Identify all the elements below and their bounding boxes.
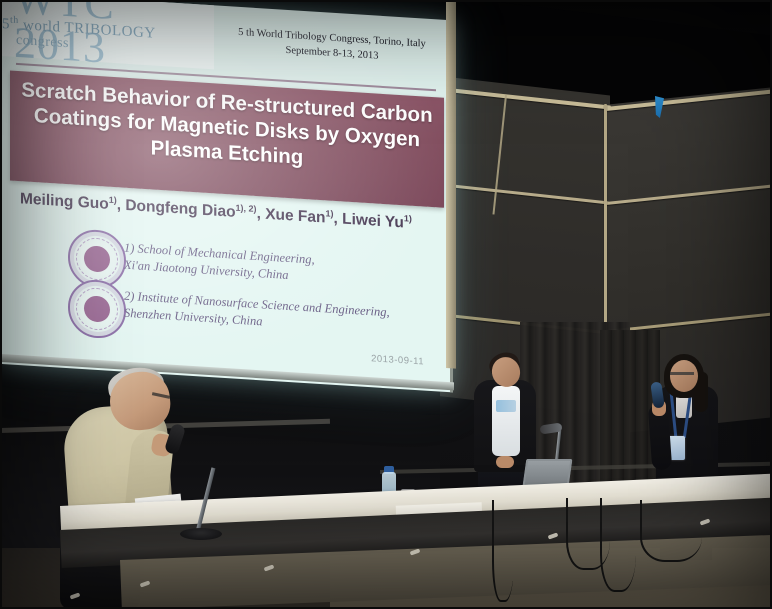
slide-header: 5 th World Tribology Congress, Torino, I… (214, 23, 450, 68)
author-sup-3: 1) (325, 208, 333, 219)
woman-right-head (670, 360, 698, 392)
cable-3 (640, 500, 702, 562)
affiliation-2: 2) Institute of Nanosurface Science and … (124, 288, 390, 338)
author-name-1: Meiling Guo (20, 190, 109, 213)
author-name-2: Dongfeng Diao (125, 197, 235, 221)
slide-title: Scratch Behavior of Re-structured Carbon… (20, 77, 434, 178)
wtc-logo-ordinal: 5 (2, 16, 10, 33)
shenzhen-university-seal-icon (68, 278, 126, 340)
woman-center-tshirt-graphic (496, 400, 516, 412)
slide: WTC 2013 5th world TRIBOLOGY congress 5 … (2, 0, 450, 392)
wtc-logo-ordinal-sup: th (10, 15, 19, 27)
wtc-logo-line2: congress (16, 33, 69, 52)
screen-frame-post (446, 0, 456, 369)
projection-screen: WTC 2013 5th world TRIBOLOGY congress 5 … (2, 0, 453, 392)
author-sup-2: 1), 2) (236, 203, 257, 214)
affiliation-1: 1) School of Mechanical Engineering, Xi'… (124, 240, 315, 286)
woman-center-tshirt (492, 386, 520, 456)
author-name-3: Xue Fan (265, 206, 325, 227)
author-sup-1: 1) (109, 195, 117, 206)
cable-4 (492, 500, 514, 602)
woman-right-glasses-icon (670, 372, 694, 375)
conference-photo: WTC 2013 5th world TRIBOLOGY congress 5 … (0, 0, 772, 609)
wtc-logo: WTC 2013 5th world TRIBOLOGY congress (2, 0, 214, 69)
author-sup-4: 1) (404, 213, 412, 224)
cable-2 (600, 498, 636, 592)
slide-title-banner: Scratch Behavior of Re-structured Carbon… (10, 71, 444, 208)
author-name-4: Liwei Yu (342, 211, 404, 232)
slide-date-stamp: 2013-09-11 (371, 353, 424, 367)
gooseneck-microphone-base (180, 528, 222, 540)
woman-center-hands (496, 456, 514, 468)
